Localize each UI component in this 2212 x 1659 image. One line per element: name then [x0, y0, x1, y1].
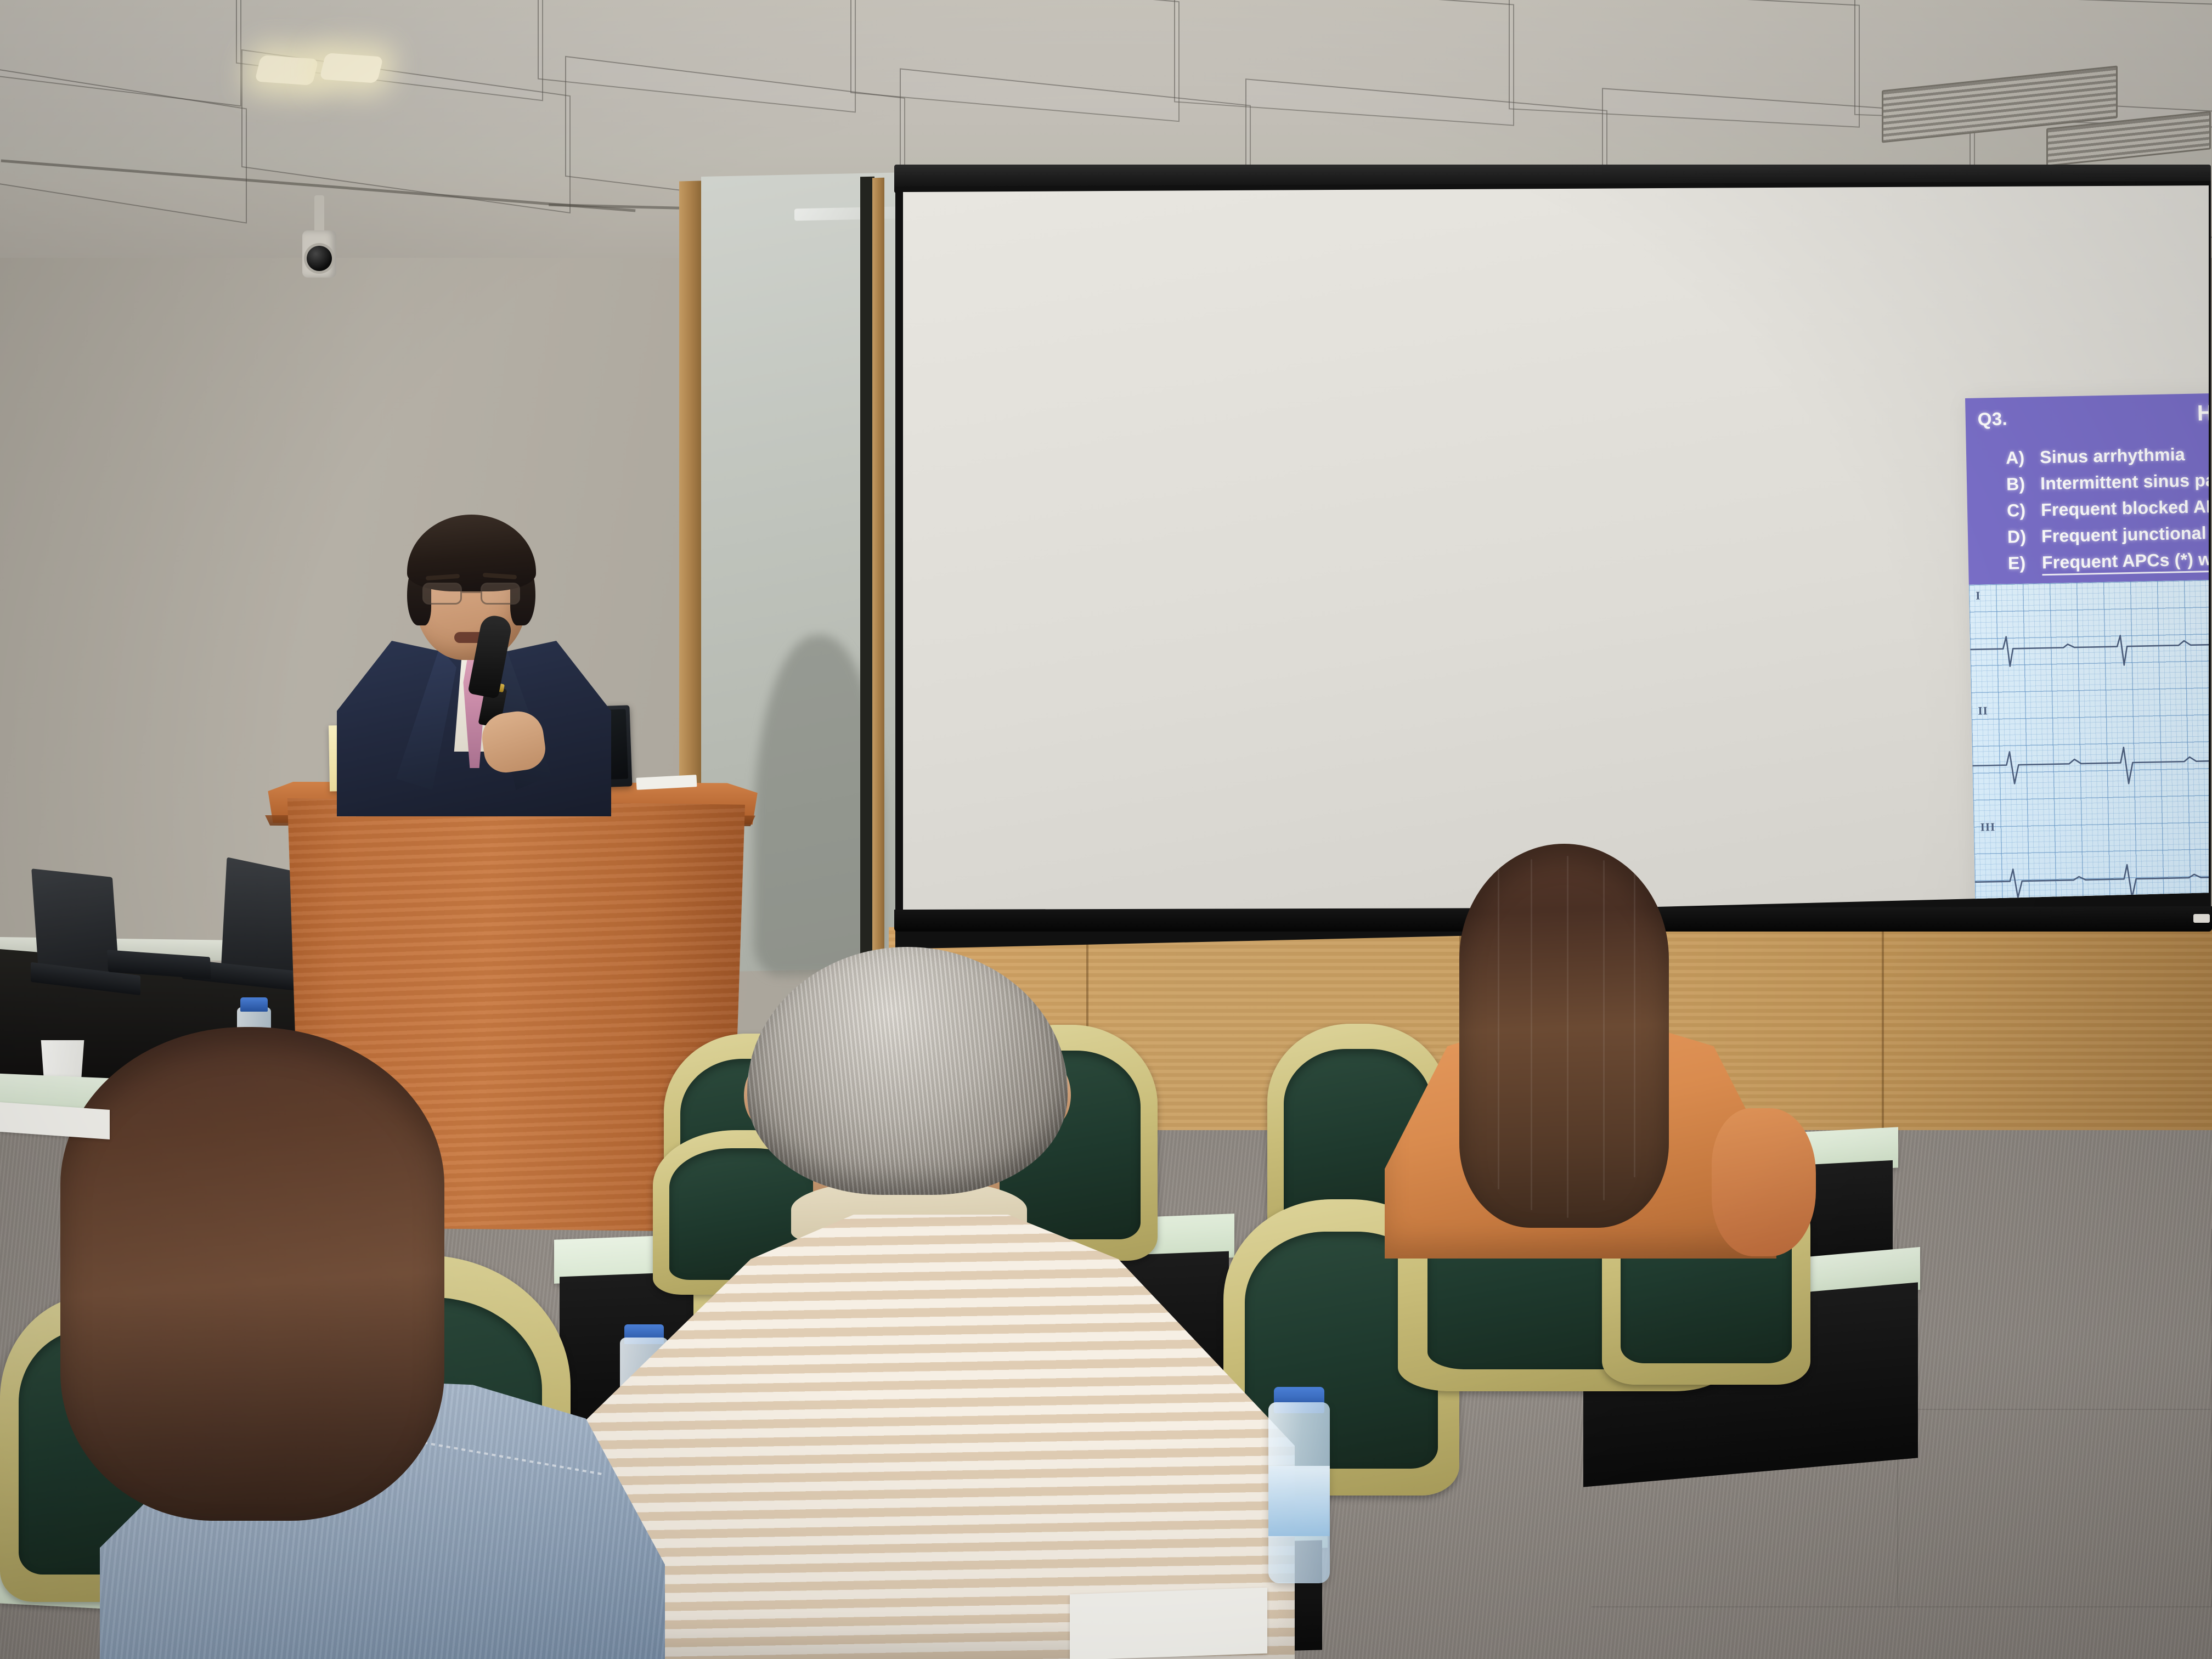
bottle-label — [1268, 1466, 1330, 1536]
option-key-a: A) — [2006, 447, 2040, 468]
eyeglass-lens-right — [481, 583, 520, 605]
ceiling-light — [319, 53, 383, 83]
ceiling-light — [255, 55, 319, 85]
screen-pull-knob[interactable] — [2193, 914, 2210, 923]
answer-option-a: A) Sinus arrhythmia — [2006, 431, 2209, 468]
option-label-a: Sinus arrhythmia — [2040, 431, 2209, 467]
lecture-hall-photo: Q3. How do you interpret this irregular … — [0, 0, 2212, 1659]
option-key-b: B) — [2006, 473, 2041, 494]
slide-header: Q3. How do you interpret this irregular … — [1965, 380, 2209, 585]
presentation-slide: Q3. How do you interpret this irregular … — [1965, 380, 2209, 926]
attendee-hair — [60, 1027, 444, 1521]
projection-screen: Q3. How do you interpret this irregular … — [903, 185, 2209, 926]
slide-title: How do you interpret this irregular rhyt… — [1965, 387, 2209, 431]
door-frame-right — [872, 178, 884, 962]
eyeglass-bridge — [462, 591, 481, 593]
speaker-eyeglasses — [422, 583, 520, 606]
attendee-arm — [1712, 1108, 1816, 1256]
answer-option-list: A) Sinus arrhythmia B) Intermittent sinu… — [2006, 431, 2209, 582]
paper-handout-front — [1070, 1588, 1267, 1659]
eyeglass-lens-left — [422, 583, 462, 605]
bottle-cap-icon — [240, 997, 268, 1012]
attendee-hair — [1459, 844, 1669, 1228]
option-key-c: C) — [2007, 500, 2041, 521]
option-key-e: E) — [2008, 552, 2042, 573]
ecg-strip: I II III II — [1969, 566, 2209, 926]
option-key-d: D) — [2007, 526, 2042, 547]
ecg-traces — [1969, 566, 2209, 926]
camera-lens-icon — [307, 246, 332, 271]
